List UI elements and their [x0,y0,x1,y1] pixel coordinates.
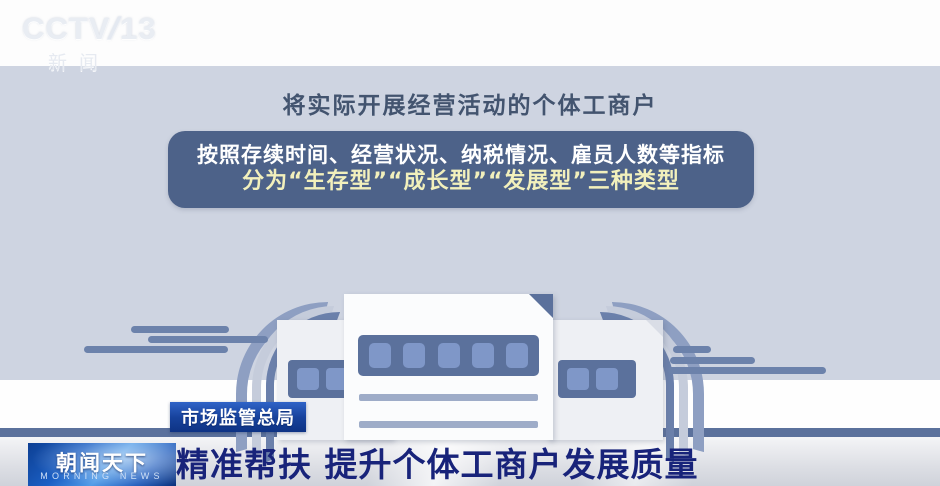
speed-line-left-1 [131,326,229,333]
document-card-right [547,320,663,440]
header-block [472,343,494,368]
headline-text: 精准帮扶 提升个体工商户发展质量 [176,438,699,486]
document-body-line [359,394,538,401]
broadcast-frame: CCTV/13 新闻 将实际开展经营活动的个体工商户 按照存续时间、经营状况、纳… [0,0,940,486]
speed-line-right-2 [670,357,755,364]
page-fold-icon [646,320,663,337]
banner-line-1: 按照存续时间、经营状况、纳税情况、雇员人数等指标 [197,144,725,168]
header-block [567,368,589,390]
speed-line-left-2 [148,336,268,343]
slide-banner: 按照存续时间、经营状况、纳税情况、雇员人数等指标 分为“生存型”“成长型”“发展… [168,131,754,208]
page-fold-icon [529,294,553,318]
cctv-wordmark: CCTV [22,11,110,46]
program-logo: 朝闻天下 MORNING NEWS [28,443,176,486]
cctv-channel-number: 13 [120,11,156,46]
document-card-main [344,294,553,440]
program-logo-en: MORNING NEWS [28,471,176,481]
slide-top-title: 将实际开展经营活动的个体工商户 [0,86,940,120]
speed-line-right-1 [673,346,711,353]
cctv13-logo-main: CCTV/13 [22,12,160,45]
header-block [403,343,425,368]
header-block [596,368,618,390]
speed-line-right-3 [668,367,826,374]
header-block [438,343,460,368]
source-tag: 市场监管总局 [170,402,306,432]
banner-line-2: 分为“生存型”“成长型”“发展型”三种类型 [242,170,680,195]
cctv13-logo-sub: 新闻 [22,48,160,75]
document-header-bar [358,335,539,376]
document-body-line [359,421,538,428]
headline-bar: 精准帮扶 提升个体工商户发展质量 [176,437,699,486]
source-tag-label: 市场监管总局 [181,404,295,430]
document-header-bar [558,360,636,398]
header-block [297,368,319,390]
header-block [369,343,391,368]
cctv13-logo: CCTV/13 新闻 [22,12,160,80]
header-block [506,343,528,368]
speed-line-left-3 [84,346,228,353]
